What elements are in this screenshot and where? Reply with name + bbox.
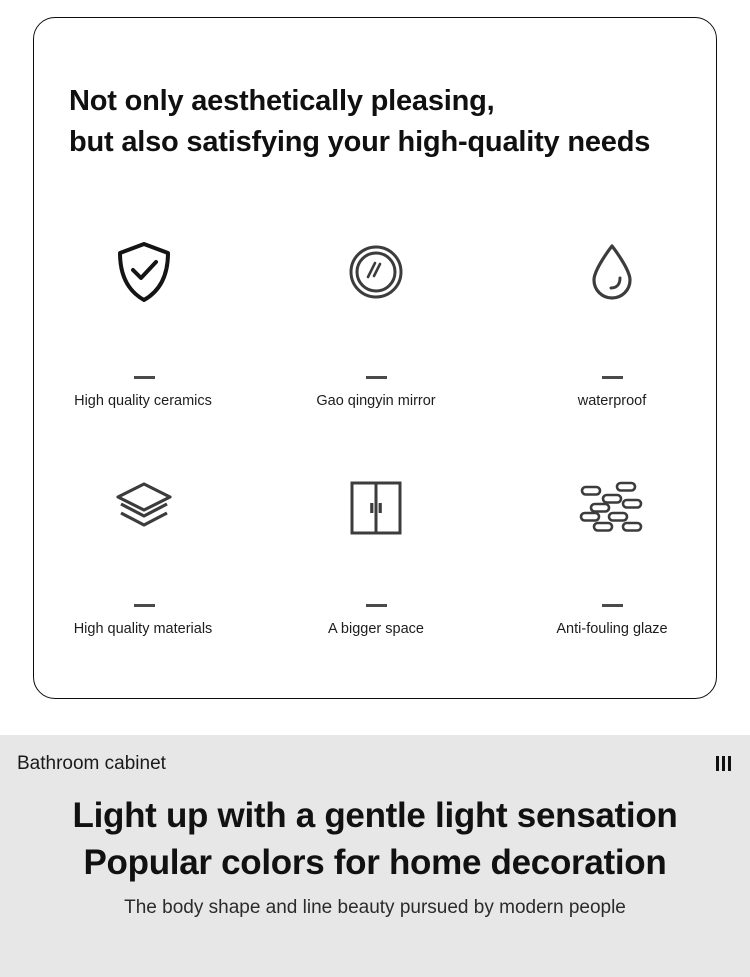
feature-label: High quality ceramics	[29, 393, 257, 409]
feature-grid: High quality ceramics Gao qingyin mirror	[34, 236, 718, 707]
feature-card: Not only aesthetically pleasing, but als…	[33, 17, 717, 699]
headline-line-2: but also satisfying your high-quality ne…	[69, 122, 689, 163]
label-dash	[602, 604, 623, 607]
label-dash	[134, 376, 155, 379]
feature-row: High quality ceramics Gao qingyin mirror	[34, 236, 718, 471]
headline-line-1: Not only aesthetically pleasing,	[69, 81, 689, 122]
feature-item-waterproof: waterproof	[490, 236, 718, 471]
feature-item-high-quality-materials: High quality materials	[34, 472, 262, 707]
breadcrumb-title: Bathroom cabinet	[17, 753, 166, 775]
feature-item-anti-fouling-glaze: Anti-fouling glaze	[490, 472, 718, 707]
promo-subtitle: The body shape and line beauty pursued b…	[0, 897, 750, 919]
feature-label: A bigger space	[262, 621, 490, 637]
feature-label: waterproof	[498, 393, 726, 409]
feature-item-high-quality-ceramics: High quality ceramics	[34, 236, 262, 471]
feature-row: High quality materials A bigger space	[34, 472, 718, 707]
feature-item-a-bigger-space: A bigger space	[262, 472, 490, 707]
label-dash	[602, 376, 623, 379]
menu-bars-icon[interactable]	[714, 752, 733, 775]
promo-title-line-2: Popular colors for home decoration	[0, 839, 750, 886]
menu-bar-1	[716, 756, 719, 771]
page-title: Not only aesthetically pleasing, but als…	[69, 81, 689, 163]
label-dash	[366, 376, 387, 379]
cabinet-doors-icon	[262, 472, 490, 544]
feature-label: Gao qingyin mirror	[262, 393, 490, 409]
menu-bar-3	[728, 756, 731, 771]
round-mirror-icon	[262, 236, 490, 308]
breadcrumb: Bathroom cabinet	[0, 735, 750, 792]
water-drop-icon	[498, 236, 726, 308]
feature-item-gao-qingyin-mirror: Gao qingyin mirror	[262, 236, 490, 471]
menu-bar-2	[722, 756, 725, 771]
promo-title: Light up with a gentle light sensation P…	[0, 792, 750, 886]
label-dash	[134, 604, 155, 607]
bottom-section: Bathroom cabinet Light up with a gentle …	[0, 735, 750, 977]
layers-stack-icon	[30, 472, 258, 544]
shield-check-icon	[30, 236, 258, 308]
promo-title-line-1: Light up with a gentle light sensation	[0, 792, 750, 839]
label-dash	[366, 604, 387, 607]
glaze-tiles-icon	[498, 472, 726, 544]
feature-label: High quality materials	[29, 621, 257, 637]
feature-panel: Not only aesthetically pleasing, but als…	[0, 0, 750, 735]
promo-block: Light up with a gentle light sensation P…	[0, 792, 750, 919]
feature-label: Anti-fouling glaze	[498, 621, 726, 637]
